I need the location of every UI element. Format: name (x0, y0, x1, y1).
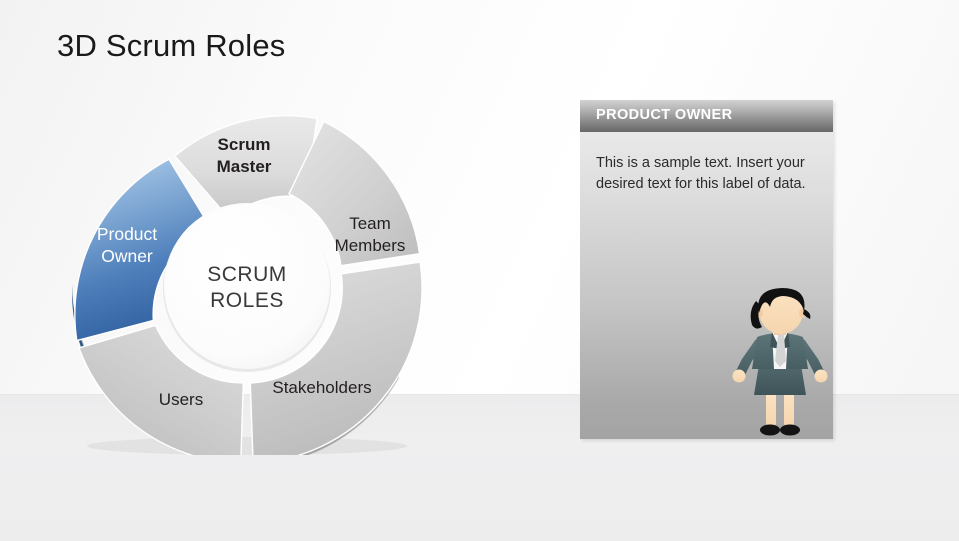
character-skirt (754, 365, 806, 395)
donut-center-hub: SCRUM ROLES (163, 203, 331, 372)
donut-svg: Scrum Master Team Members Stakeholders U… (58, 105, 438, 455)
character-legs (766, 391, 794, 427)
panel-body: This is a sample text. Insert your desir… (580, 132, 833, 439)
page-title: 3D Scrum Roles (57, 28, 285, 64)
character-shoes (760, 425, 800, 436)
segment-label-users: Users (159, 390, 203, 409)
donut-ground-shadow (87, 437, 407, 455)
scrum-roles-donut-chart: Scrum Master Team Members Stakeholders U… (58, 105, 438, 455)
segment-label-product-owner-line2: Owner (101, 246, 153, 266)
product-owner-info-panel: PRODUCT OWNER This is a sample text. Ins… (580, 100, 833, 439)
segment-label-team-members-line2: Members (335, 236, 406, 255)
businesswoman-icon (726, 287, 833, 439)
panel-header-bar: PRODUCT OWNER (580, 100, 833, 132)
panel-header-title: PRODUCT OWNER (596, 107, 733, 123)
segment-label-team-members-line1: Team (349, 214, 391, 233)
segment-label-scrum-master-line1: Scrum (218, 135, 271, 154)
donut-center-label-line1: SCRUM (207, 263, 287, 286)
segment-label-stakeholders: Stakeholders (272, 378, 371, 397)
panel-body-text: This is a sample text. Insert your desir… (596, 153, 818, 195)
segment-label-scrum-master-line2: Master (217, 157, 272, 176)
slide-canvas: 3D Scrum Roles (0, 0, 959, 540)
segment-label-product-owner-line1: Product (97, 224, 157, 244)
donut-center-label-line2: ROLES (210, 289, 284, 312)
